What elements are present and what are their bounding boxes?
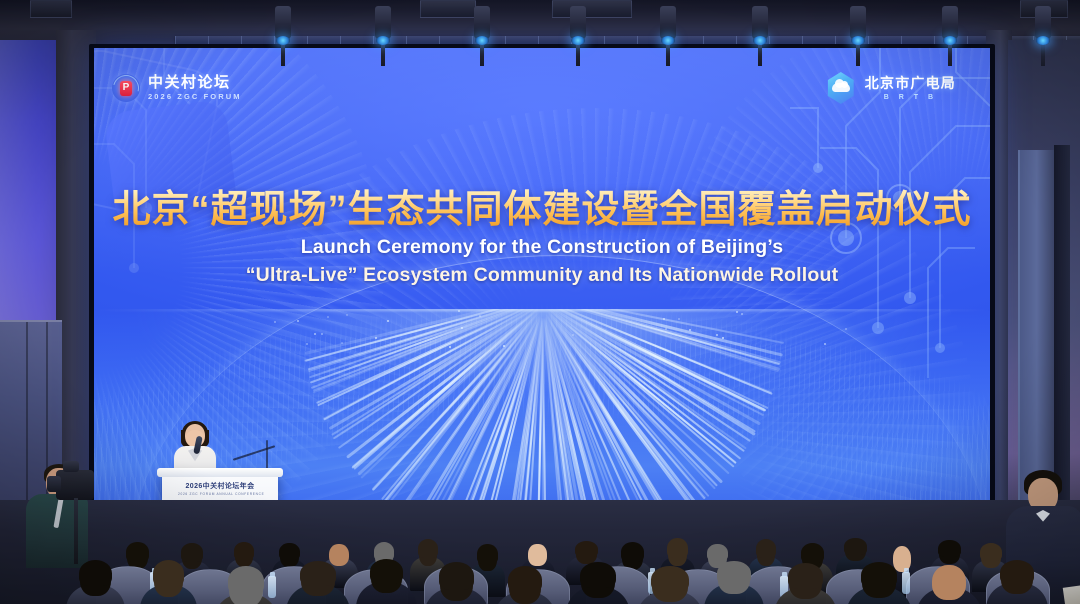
audience-member	[494, 563, 556, 604]
stage-light	[1035, 6, 1051, 40]
audience-member	[356, 556, 417, 604]
zgc-forum-logo: P 中关村论坛 2026 ZGC FORUM	[112, 74, 242, 102]
stage-light-lens-icon	[851, 36, 865, 45]
screen-particle	[716, 334, 718, 336]
camera-lens-icon	[47, 476, 61, 492]
stage-light-lens-icon	[1036, 36, 1050, 45]
audience-hair	[1000, 560, 1034, 585]
stage-light	[850, 6, 866, 40]
audience-hair	[370, 559, 404, 584]
audience-hair	[300, 561, 335, 586]
main-title-english: Launch Ceremony for the Construction of …	[94, 234, 990, 289]
ceiling-speaker-box	[30, 0, 72, 18]
stage-light	[474, 6, 490, 40]
screen-particle	[327, 316, 329, 318]
audience-member	[566, 559, 630, 604]
audience-hair	[788, 563, 823, 590]
ceiling-speaker-box	[420, 0, 476, 18]
screen-particle	[387, 320, 389, 322]
stage-light-lens-icon	[943, 36, 957, 45]
screen-particle	[665, 328, 667, 330]
screen-particle	[479, 315, 481, 317]
zgc-logo-cn-text: 中关村论坛	[148, 75, 242, 90]
screen-particle	[306, 343, 308, 345]
audience-member	[774, 560, 837, 604]
brtb-hexagon-cloud-icon	[826, 72, 856, 104]
stage-light	[752, 6, 768, 40]
podium-top-surface	[157, 468, 283, 477]
podium-text-en: 2026 ZGC FORUM ANNUAL CONFERENCE	[178, 493, 262, 496]
audience-member	[636, 563, 704, 604]
audience-hair	[418, 539, 439, 558]
stage-light	[660, 6, 676, 40]
led-stage-screen: P 中关村论坛 2026 ZGC FORUM 北京市广电局 B R T B 北京…	[94, 48, 990, 540]
audience-member	[846, 559, 912, 604]
screen-particle	[274, 321, 276, 323]
stage-light	[942, 6, 958, 40]
screen-particle	[722, 337, 724, 339]
zgc-forum-mark-icon: P	[112, 74, 140, 102]
audience-hair	[234, 542, 255, 560]
stage-light	[375, 6, 391, 40]
screen-particle	[341, 342, 343, 344]
audience-member	[214, 563, 278, 604]
screen-particle	[678, 318, 680, 320]
stage-light-lens-icon	[376, 36, 390, 45]
stage-light-lens-icon	[276, 36, 290, 45]
stage-light	[570, 6, 586, 40]
screen-particle	[321, 333, 323, 335]
stage-light-lens-icon	[753, 36, 767, 45]
camera-tripod	[74, 498, 78, 564]
brtb-logo-cn-text: 北京市广电局	[865, 76, 956, 90]
audience-hair	[844, 538, 866, 555]
audience-hair	[667, 538, 687, 558]
audience-hair	[651, 566, 688, 593]
audience-hair	[153, 560, 185, 587]
brtb-logo-en-text: B R T B	[865, 94, 956, 101]
audience-hair	[580, 562, 615, 589]
main-title-chinese: 北京“超现场”生态共同体建设暨全国覆盖启动仪式	[94, 178, 990, 233]
screen-particle	[346, 314, 348, 316]
stage-light-lens-icon	[571, 36, 585, 45]
screen-particle	[297, 320, 299, 322]
audience-member	[140, 557, 197, 604]
audience-hair	[439, 562, 475, 590]
screen-particle	[736, 311, 738, 313]
brtb-logo: 北京市广电局 B R T B	[826, 72, 956, 104]
screen-particle	[449, 346, 451, 348]
audience-member	[286, 558, 350, 604]
title-english-line1: Launch Ceremony for the Construction of …	[94, 234, 990, 262]
right-attendee-paper	[1063, 584, 1080, 604]
audience-hair	[575, 541, 598, 558]
stage-light-lens-icon	[475, 36, 489, 45]
podium-nameplate: 2026中关村论坛年会 2026 ZGC FORUM ANNUAL CONFER…	[178, 483, 262, 496]
screen-particle	[503, 345, 505, 347]
zgc-logo-en-text: 2026 ZGC FORUM	[148, 93, 242, 101]
stage-light	[275, 6, 291, 40]
title-english-line2: “Ultra-Live” Ecosystem Community and Its…	[94, 262, 990, 290]
audience-hair	[508, 566, 542, 594]
audience-member	[424, 559, 489, 604]
ceiling-speaker-box	[552, 0, 632, 18]
screen-particle	[663, 318, 665, 320]
audience-hair	[228, 566, 263, 595]
audience-hair	[938, 540, 960, 557]
screen-particle	[689, 329, 691, 331]
stage-light-lens-icon	[661, 36, 675, 45]
camera-viewfinder	[63, 461, 79, 472]
audience-hair	[756, 539, 777, 558]
audience-member	[916, 559, 982, 604]
screen-particle	[845, 328, 847, 330]
audience-hair	[861, 562, 897, 588]
podium-text-cn: 2026中关村论坛年会	[178, 483, 262, 490]
screen-particle	[314, 333, 316, 335]
screen-particle	[741, 313, 743, 315]
audience-member	[986, 557, 1048, 604]
audience-member	[704, 558, 764, 604]
audience-hair	[79, 560, 112, 587]
conference-hall-screenshot: P 中关村论坛 2026 ZGC FORUM 北京市广电局 B R T B 北京…	[0, 0, 1080, 604]
screen-particle	[824, 343, 826, 345]
video-camera	[56, 470, 94, 500]
audience-hair	[717, 561, 750, 585]
audience-head	[932, 565, 966, 600]
screen-particle	[375, 337, 377, 339]
audience-member	[66, 557, 125, 604]
